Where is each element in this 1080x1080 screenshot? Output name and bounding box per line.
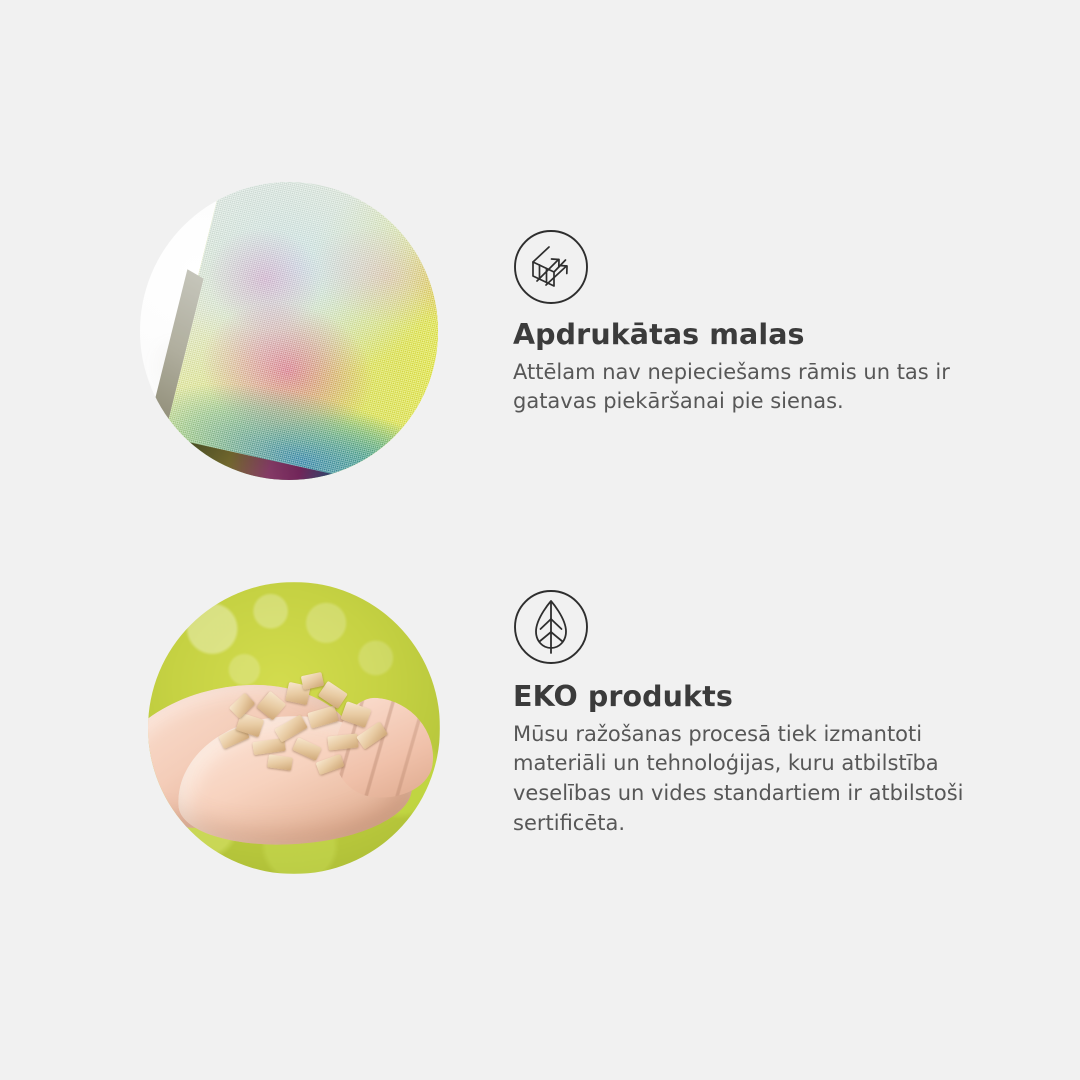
canvas-photo-inner	[140, 182, 438, 480]
canvas-printed-face	[154, 182, 438, 480]
printed-edges-text-block: Apdrukātas malas Attēlam nav nepieciešam…	[513, 318, 1013, 417]
canvas-print-corner-photo	[140, 182, 438, 480]
feature-title-eko-produkts: EKO produkts	[513, 680, 1013, 714]
leaf-icon	[513, 589, 589, 665]
eco-photo-inner	[148, 582, 440, 874]
canvas-wrapped-edge-icon	[513, 229, 589, 305]
feature-title-printed-edges: Apdrukātas malas	[513, 318, 1013, 352]
eco-product-text-block: EKO produkts Mūsu ražošanas procesā tiek…	[513, 680, 1013, 839]
feature-description-eko-produkts: Mūsu ražošanas procesā tiek izmantoti ma…	[513, 720, 993, 839]
feature-description-printed-edges: Attēlam nav nepieciešams rāmis un tas ir…	[513, 358, 993, 418]
product-feature-panel: Apdrukātas malas Attēlam nav nepieciešam…	[0, 0, 1080, 1080]
hands-holding-wood-chips-photo	[148, 582, 440, 874]
wood-chips-pile	[212, 670, 399, 787]
